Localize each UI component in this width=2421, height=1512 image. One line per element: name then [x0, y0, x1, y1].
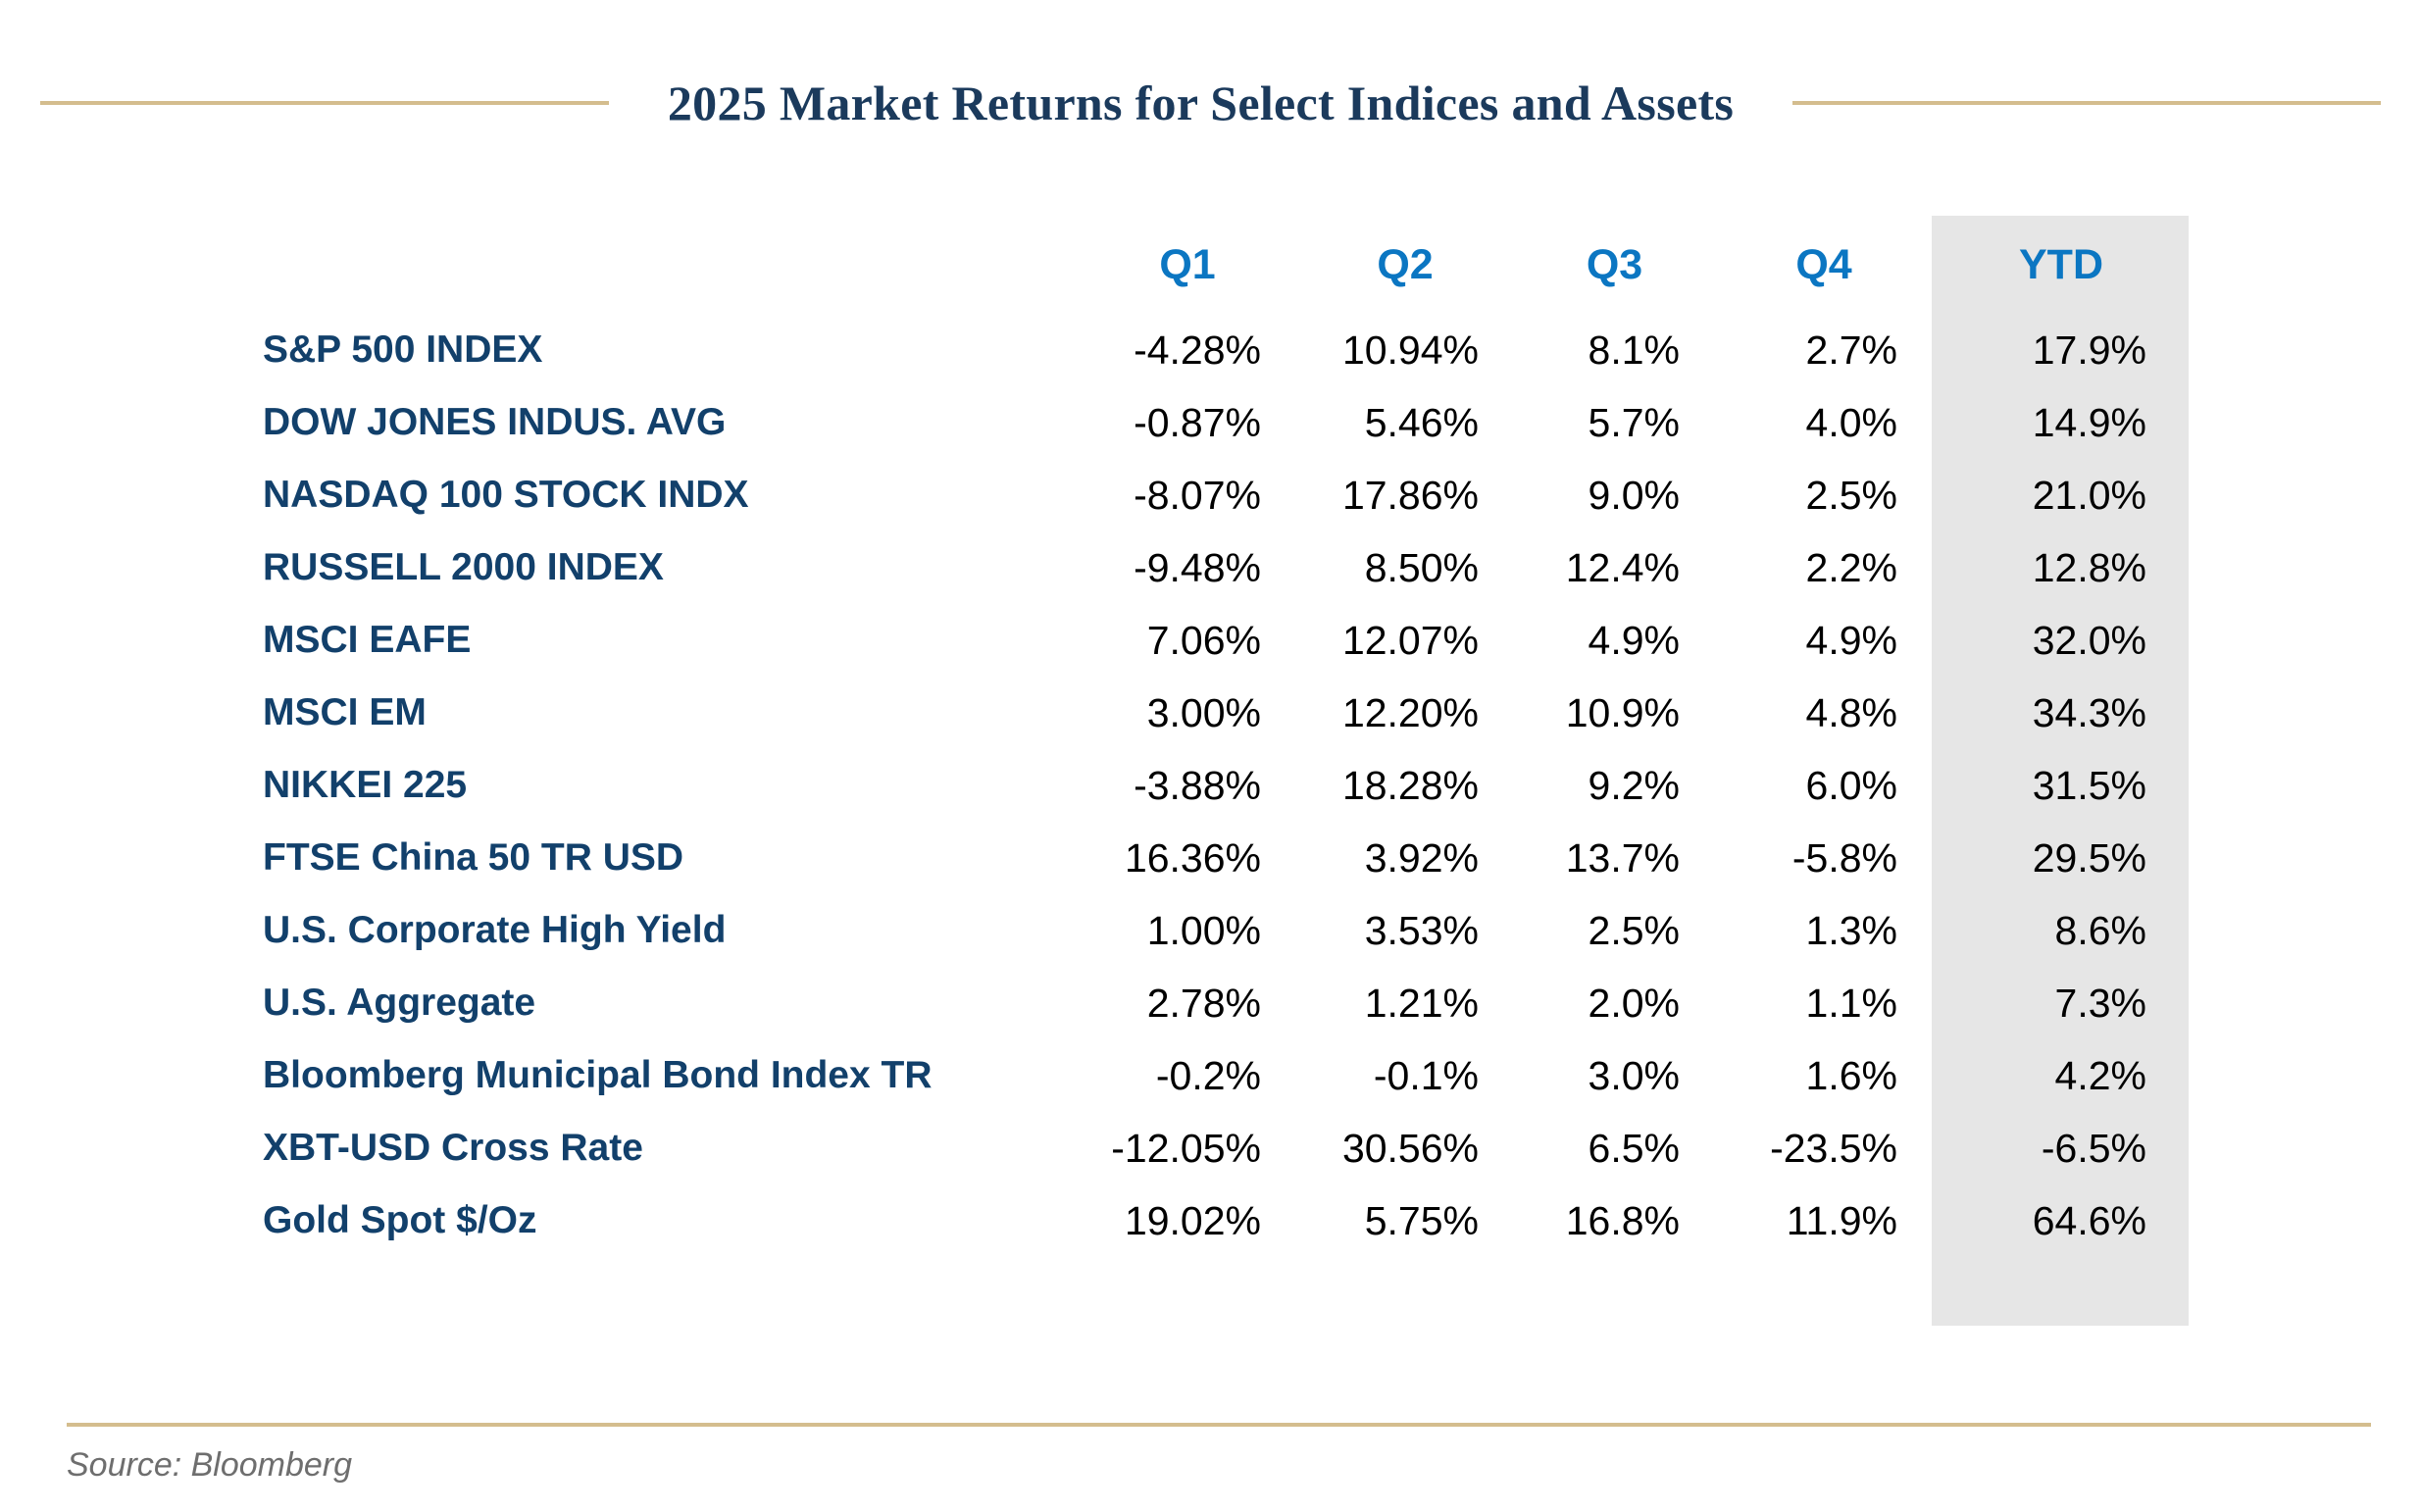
market-returns-table: Q1 Q2 Q3 Q4 YTD S&P 500 INDEX -4.28% 10.…	[263, 216, 2190, 1257]
page-title: 2025 Market Returns for Select Indices a…	[668, 75, 1734, 131]
cell-q1: -0.87%	[1079, 386, 1296, 459]
page-header: 2025 Market Returns for Select Indices a…	[0, 69, 2421, 137]
cell-q2: 18.28%	[1296, 749, 1514, 822]
cell-q1: 7.06%	[1079, 604, 1296, 677]
row-label: MSCI EM	[263, 677, 1079, 749]
cell-q2: 1.21%	[1296, 967, 1514, 1039]
returns-table-container: Q1 Q2 Q3 Q4 YTD S&P 500 INDEX -4.28% 10.…	[0, 216, 2421, 1257]
cell-q2: 12.07%	[1296, 604, 1514, 677]
cell-q3: 2.0%	[1514, 967, 1715, 1039]
cell-q4: 11.9%	[1715, 1184, 1933, 1257]
table-row: MSCI EM 3.00% 12.20% 10.9% 4.8% 34.3%	[263, 677, 2190, 749]
column-header-q4: Q4	[1715, 216, 1933, 314]
table-body: S&P 500 INDEX -4.28% 10.94% 8.1% 2.7% 17…	[263, 314, 2190, 1257]
cell-q3: 12.4%	[1514, 531, 1715, 604]
cell-ytd: 4.2%	[1933, 1039, 2190, 1112]
cell-q1: 19.02%	[1079, 1184, 1296, 1257]
row-label: DOW JONES INDUS. AVG	[263, 386, 1079, 459]
cell-q4: 4.9%	[1715, 604, 1933, 677]
table-row: XBT-USD Cross Rate -12.05% 30.56% 6.5% -…	[263, 1112, 2190, 1184]
cell-q3: 13.7%	[1514, 822, 1715, 894]
cell-q3: 10.9%	[1514, 677, 1715, 749]
cell-q3: 5.7%	[1514, 386, 1715, 459]
row-label: U.S. Corporate High Yield	[263, 894, 1079, 967]
cell-ytd: 7.3%	[1933, 967, 2190, 1039]
table-row: U.S. Corporate High Yield 1.00% 3.53% 2.…	[263, 894, 2190, 967]
column-header-q1: Q1	[1079, 216, 1296, 314]
table-row: U.S. Aggregate 2.78% 1.21% 2.0% 1.1% 7.3…	[263, 967, 2190, 1039]
cell-ytd: 34.3%	[1933, 677, 2190, 749]
cell-q2: 3.53%	[1296, 894, 1514, 967]
row-label: NIKKEI 225	[263, 749, 1079, 822]
cell-q3: 2.5%	[1514, 894, 1715, 967]
cell-q4: 2.2%	[1715, 531, 1933, 604]
cell-q3: 6.5%	[1514, 1112, 1715, 1184]
cell-q3: 9.2%	[1514, 749, 1715, 822]
row-label: NASDAQ 100 STOCK INDX	[263, 459, 1079, 531]
footer-rule	[67, 1423, 2371, 1427]
cell-ytd: 64.6%	[1933, 1184, 2190, 1257]
table-row: DOW JONES INDUS. AVG -0.87% 5.46% 5.7% 4…	[263, 386, 2190, 459]
row-label: FTSE China 50 TR USD	[263, 822, 1079, 894]
cell-q2: 12.20%	[1296, 677, 1514, 749]
cell-q1: -3.88%	[1079, 749, 1296, 822]
column-header-ytd: YTD	[1933, 216, 2190, 314]
cell-q1: 3.00%	[1079, 677, 1296, 749]
cell-q2: 5.75%	[1296, 1184, 1514, 1257]
cell-ytd: 14.9%	[1933, 386, 2190, 459]
cell-q1: 16.36%	[1079, 822, 1296, 894]
cell-q2: 3.92%	[1296, 822, 1514, 894]
cell-q4: 2.5%	[1715, 459, 1933, 531]
cell-q4: 1.3%	[1715, 894, 1933, 967]
cell-q3: 4.9%	[1514, 604, 1715, 677]
table-row: FTSE China 50 TR USD 16.36% 3.92% 13.7% …	[263, 822, 2190, 894]
row-label: XBT-USD Cross Rate	[263, 1112, 1079, 1184]
row-label: RUSSELL 2000 INDEX	[263, 531, 1079, 604]
cell-ytd: 29.5%	[1933, 822, 2190, 894]
column-header-q3: Q3	[1514, 216, 1715, 314]
cell-q3: 9.0%	[1514, 459, 1715, 531]
table-row: MSCI EAFE 7.06% 12.07% 4.9% 4.9% 32.0%	[263, 604, 2190, 677]
source-attribution: Source: Bloomberg	[67, 1446, 2371, 1485]
cell-ytd: 12.8%	[1933, 531, 2190, 604]
cell-q2: 8.50%	[1296, 531, 1514, 604]
cell-q2: 10.94%	[1296, 314, 1514, 386]
column-header-label	[263, 216, 1079, 314]
table-header-row: Q1 Q2 Q3 Q4 YTD	[263, 216, 2190, 314]
cell-q4: 2.7%	[1715, 314, 1933, 386]
row-label: U.S. Aggregate	[263, 967, 1079, 1039]
cell-q4: 6.0%	[1715, 749, 1933, 822]
cell-ytd: 21.0%	[1933, 459, 2190, 531]
header-rule-left	[40, 101, 609, 105]
row-label: MSCI EAFE	[263, 604, 1079, 677]
cell-q1: -9.48%	[1079, 531, 1296, 604]
cell-q1: -0.2%	[1079, 1039, 1296, 1112]
cell-q3: 8.1%	[1514, 314, 1715, 386]
table-row: NASDAQ 100 STOCK INDX -8.07% 17.86% 9.0%…	[263, 459, 2190, 531]
cell-q1: 2.78%	[1079, 967, 1296, 1039]
table-row: Bloomberg Municipal Bond Index TR -0.2% …	[263, 1039, 2190, 1112]
row-label: S&P 500 INDEX	[263, 314, 1079, 386]
cell-q4: 1.6%	[1715, 1039, 1933, 1112]
cell-ytd: -6.5%	[1933, 1112, 2190, 1184]
cell-ytd: 8.6%	[1933, 894, 2190, 967]
cell-q2: 17.86%	[1296, 459, 1514, 531]
cell-q1: -4.28%	[1079, 314, 1296, 386]
page-footer: Source: Bloomberg	[67, 1423, 2371, 1485]
cell-q4: -5.8%	[1715, 822, 1933, 894]
cell-q1: -8.07%	[1079, 459, 1296, 531]
row-label: Gold Spot $/Oz	[263, 1184, 1079, 1257]
cell-q3: 16.8%	[1514, 1184, 1715, 1257]
cell-q2: -0.1%	[1296, 1039, 1514, 1112]
cell-q4: 1.1%	[1715, 967, 1933, 1039]
cell-q1: -12.05%	[1079, 1112, 1296, 1184]
cell-ytd: 31.5%	[1933, 749, 2190, 822]
row-label: Bloomberg Municipal Bond Index TR	[263, 1039, 1079, 1112]
header-rule-right	[1792, 101, 2381, 105]
cell-q3: 3.0%	[1514, 1039, 1715, 1112]
cell-ytd: 17.9%	[1933, 314, 2190, 386]
table-row: RUSSELL 2000 INDEX -9.48% 8.50% 12.4% 2.…	[263, 531, 2190, 604]
cell-q4: -23.5%	[1715, 1112, 1933, 1184]
cell-q1: 1.00%	[1079, 894, 1296, 967]
table-row: Gold Spot $/Oz 19.02% 5.75% 16.8% 11.9% …	[263, 1184, 2190, 1257]
table-row: S&P 500 INDEX -4.28% 10.94% 8.1% 2.7% 17…	[263, 314, 2190, 386]
cell-q2: 30.56%	[1296, 1112, 1514, 1184]
cell-q4: 4.8%	[1715, 677, 1933, 749]
cell-q2: 5.46%	[1296, 386, 1514, 459]
cell-ytd: 32.0%	[1933, 604, 2190, 677]
table-row: NIKKEI 225 -3.88% 18.28% 9.2% 6.0% 31.5%	[263, 749, 2190, 822]
column-header-q2: Q2	[1296, 216, 1514, 314]
cell-q4: 4.0%	[1715, 386, 1933, 459]
